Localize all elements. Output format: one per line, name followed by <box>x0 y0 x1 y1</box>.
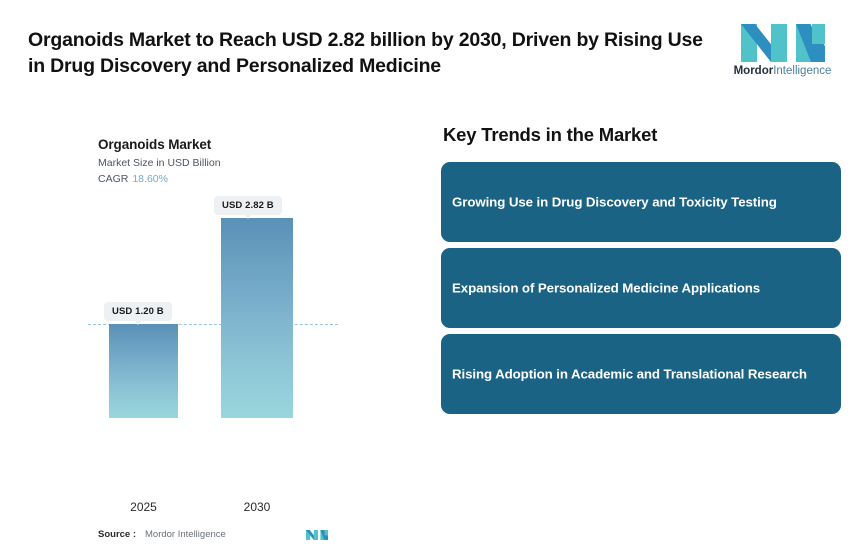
chart-panel: Organoids Market Market Size in USD Bill… <box>78 118 348 468</box>
bar-2030 <box>221 218 293 418</box>
trend-card-3[interactable]: Rising Adoption in Academic and Translat… <box>441 334 841 414</box>
chart-cagr: CAGR18.60% <box>98 173 168 185</box>
cagr-label: CAGR <box>98 173 128 185</box>
x-axis-label-2025: 2025 <box>109 500 178 514</box>
key-trends-panel: Key Trends in the Market Growing Use in … <box>441 124 841 420</box>
chart-subtitle: Market Size in USD Billion <box>98 157 221 169</box>
trend-card-2[interactable]: Expansion of Personalized Medicine Appli… <box>441 248 841 328</box>
brand-name-bold: Mordor <box>734 65 774 77</box>
bar-label-2025: USD 1.20 B <box>104 302 172 321</box>
key-trends-title: Key Trends in the Market <box>441 124 841 146</box>
trend-card-1[interactable]: Growing Use in Drug Discovery and Toxici… <box>441 162 841 242</box>
cagr-value: 18.60% <box>132 173 168 185</box>
page-title: Organoids Market to Reach USD 2.82 billi… <box>28 27 718 79</box>
mordor-m-mark-icon <box>741 24 825 62</box>
brand-logo: MordorIntelligence <box>729 24 836 84</box>
bar-2025 <box>109 324 178 418</box>
bar-label-2030: USD 2.82 B <box>214 196 282 215</box>
bar-chart-plot-area: USD 1.20 B USD 2.82 B 2025 2030 Source :… <box>78 196 348 418</box>
chart-title: Organoids Market <box>98 137 211 152</box>
mordor-m-mark-icon <box>306 528 328 542</box>
source-label: Source : <box>98 529 136 540</box>
page-header: Organoids Market to Reach USD 2.82 billi… <box>0 0 860 100</box>
trend-card-text: Growing Use in Drug Discovery and Toxici… <box>452 192 822 213</box>
chart-source: Source : Mordor Intelligence <box>98 528 348 546</box>
brand-name-light: Intelligence <box>773 65 831 77</box>
trend-card-text: Rising Adoption in Academic and Translat… <box>452 364 822 385</box>
trend-card-text: Expansion of Personalized Medicine Appli… <box>452 278 822 299</box>
x-axis-label-2030: 2030 <box>221 500 293 514</box>
source-value: Mordor Intelligence <box>145 529 226 540</box>
brand-wordmark: MordorIntelligence <box>729 65 836 77</box>
